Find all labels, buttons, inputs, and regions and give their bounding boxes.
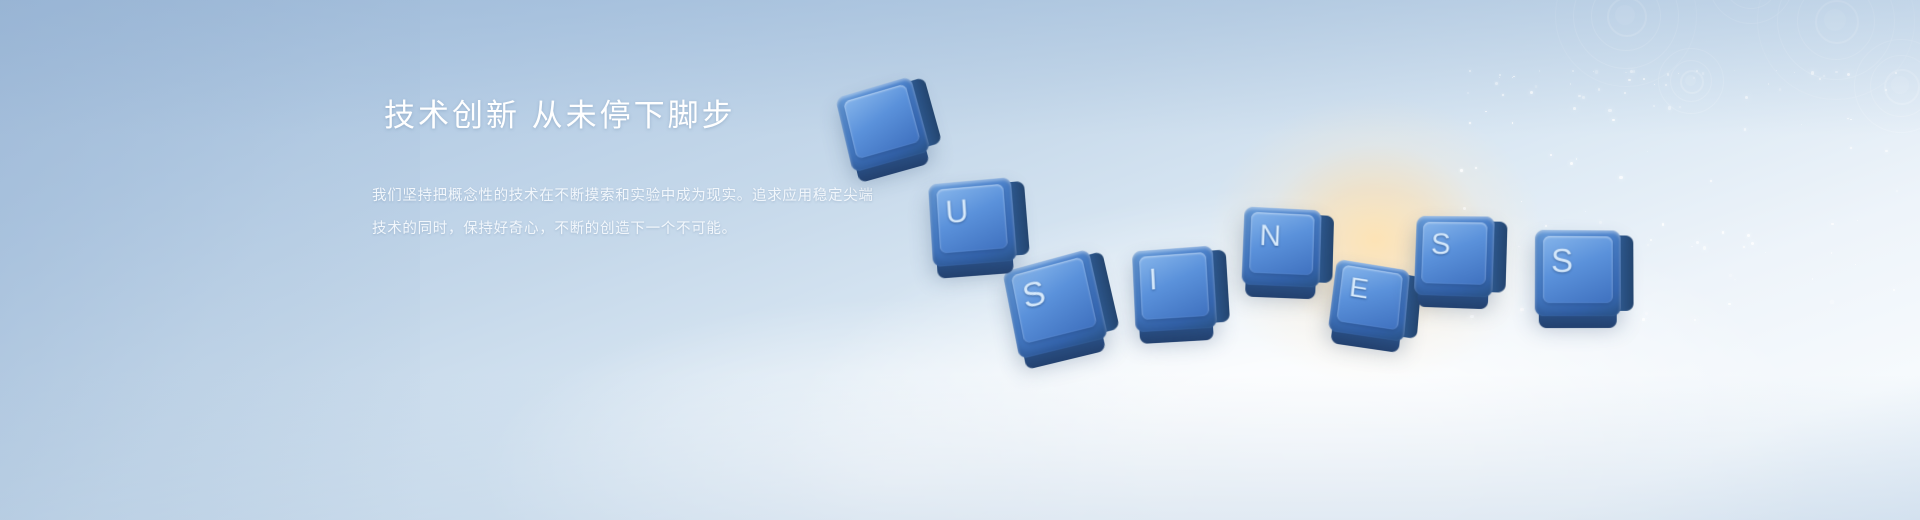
keycap-u: U [928, 177, 1017, 267]
keycap-s-1: S [1002, 249, 1108, 359]
keycap-letter: N [1241, 206, 1321, 287]
keycap-letter: S [1414, 216, 1495, 297]
keycap-top-face: I [1132, 246, 1217, 333]
keycap-e: E [1328, 259, 1410, 342]
keycap-letter: E [1328, 259, 1410, 342]
keycap-letter: S [1535, 230, 1621, 316]
keycap-top-face: S [1414, 216, 1495, 297]
keycap-s-2: S [1414, 216, 1495, 297]
keycap-top-face: N [1241, 206, 1321, 287]
keycap-s-3: S [1535, 230, 1621, 316]
keycap-group: SUINESS [0, 0, 1920, 520]
keycap-top-face: S [1535, 230, 1621, 316]
keycap-blank [835, 76, 931, 173]
keycap-i: I [1132, 246, 1217, 333]
keycap-n: N [1241, 206, 1321, 287]
hero-banner: 技术创新 从未停下脚步 我们坚持把概念性的技术在不断摸索和实验中成为现实。追求应… [0, 0, 1920, 520]
keycap-letter: I [1132, 246, 1217, 333]
keycap-top-face: E [1328, 259, 1410, 342]
